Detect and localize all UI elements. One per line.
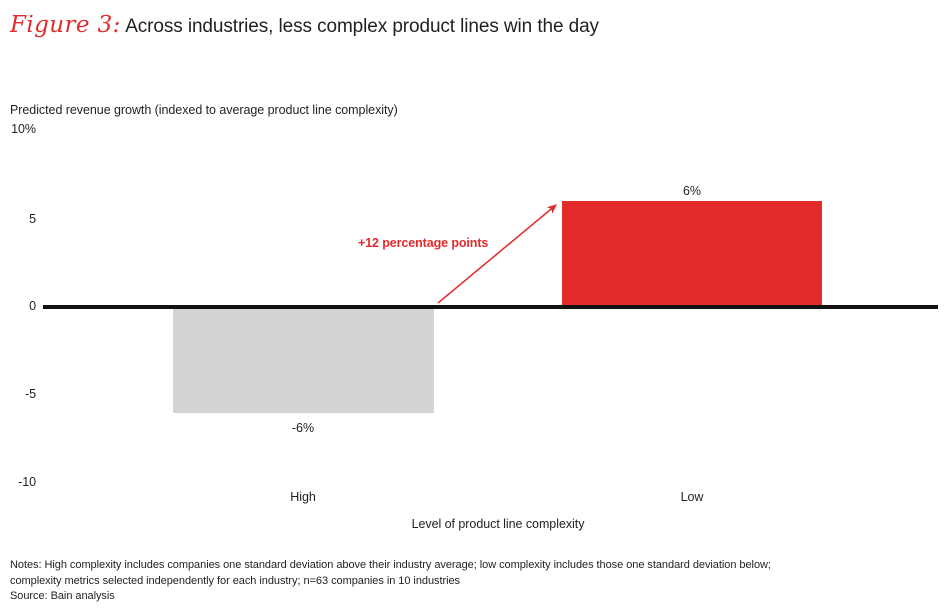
bar-low-complexity[interactable]	[562, 201, 822, 309]
footnote-notes-line1: Notes: High complexity includes companie…	[10, 558, 771, 574]
y-axis-tick-neg10: -10	[4, 475, 36, 489]
figure-page: Figure 3: Across industries, less comple…	[0, 0, 950, 615]
x-axis-category-high: High	[223, 490, 383, 504]
y-axis-tick-10: 10%	[4, 122, 36, 136]
y-axis-tick-0: 0	[4, 299, 36, 313]
bar-value-label-high: -6%	[243, 421, 363, 435]
footnote-source: Source: Bain analysis	[10, 589, 771, 605]
x-axis-title: Level of product line complexity	[298, 517, 698, 531]
annotation-label-delta: +12 percentage points	[358, 236, 488, 250]
footnotes: Notes: High complexity includes companie…	[10, 558, 771, 605]
bar-value-label-low: 6%	[632, 184, 752, 198]
footnote-notes-line2: complexity metrics selected independentl…	[10, 574, 771, 590]
bar-high-complexity[interactable]	[173, 309, 434, 413]
x-axis-category-low: Low	[612, 490, 772, 504]
y-axis-tick-5: 5	[4, 212, 36, 226]
zero-baseline	[43, 305, 938, 309]
y-axis-tick-neg5: -5	[4, 387, 36, 401]
chart-plot-area: 10% 5 0 -5 -10 -6% 6% High Low Level of …	[0, 0, 950, 615]
